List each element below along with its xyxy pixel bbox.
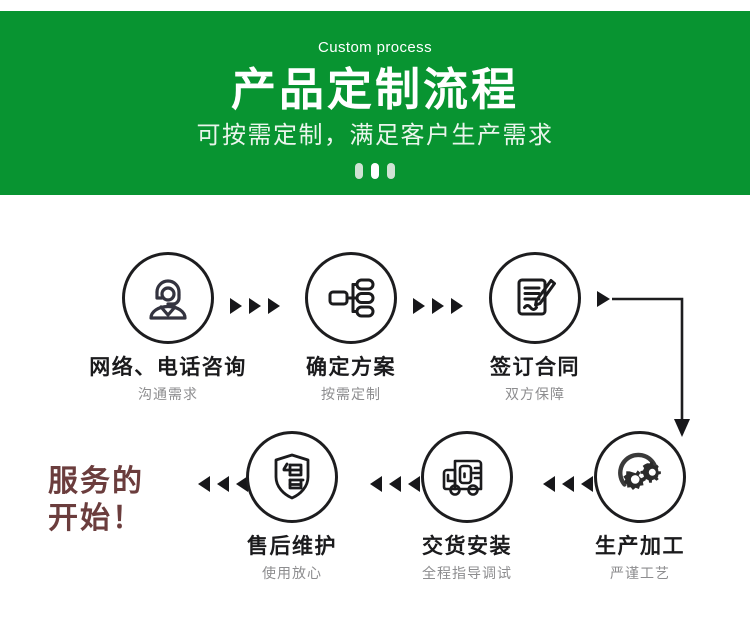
flow-step-subtitle: 沟通需求 — [88, 385, 248, 404]
flow-step-delivery[interactable]: 交货安装 全程指导调试 — [387, 431, 547, 583]
triangle-left-icon — [198, 476, 210, 492]
shield-sale-icon — [246, 431, 338, 523]
triangle-left-icon — [543, 476, 555, 492]
flow-step-aftersales[interactable]: 售后维护 使用放心 — [212, 431, 372, 583]
flow-step-subtitle: 全程指导调试 — [387, 564, 547, 583]
flow-step-consult[interactable]: 网络、电话咨询 沟通需求 — [88, 252, 248, 404]
delivery-truck-icon — [421, 431, 513, 523]
triangle-right-icon — [413, 298, 425, 314]
banner-bars-decoration — [355, 163, 395, 179]
connector-arrow-down — [596, 291, 706, 441]
document-pen-icon — [489, 252, 581, 344]
flowchart-icon — [305, 252, 397, 344]
flow-step-subtitle: 双方保障 — [455, 385, 615, 404]
flow-step-subtitle: 按需定制 — [271, 385, 431, 404]
triangle-right-icon — [249, 298, 261, 314]
gears-icon — [594, 431, 686, 523]
process-flow: 网络、电话咨询 沟通需求 — [0, 195, 750, 634]
flow-step-title: 确定方案 — [271, 355, 431, 381]
flow-step-title: 售后维护 — [212, 534, 372, 560]
banner-eyebrow: Custom process — [0, 39, 750, 57]
triangle-right-icon — [230, 298, 242, 314]
service-start-slogan: 服务的 开始！ — [48, 463, 198, 537]
flow-step-plan[interactable]: 确定方案 按需定制 — [271, 252, 431, 404]
bar-decoration-left — [355, 163, 363, 179]
person-headset-icon — [122, 252, 214, 344]
flow-step-title: 生产加工 — [560, 534, 720, 560]
triangle-left-icon — [370, 476, 382, 492]
slogan-line-1: 服务的 — [48, 463, 198, 500]
flow-step-subtitle: 严谨工艺 — [560, 564, 720, 583]
flow-step-subtitle: 使用放心 — [212, 564, 372, 583]
flow-step-title: 网络、电话咨询 — [88, 355, 248, 381]
flow-step-production[interactable]: 生产加工 严谨工艺 — [560, 431, 720, 583]
slogan-line-2: 开始！ — [48, 500, 198, 537]
triangle-right-icon — [432, 298, 444, 314]
bar-decoration-middle — [371, 163, 379, 179]
flow-step-title: 交货安装 — [387, 534, 547, 560]
banner-subtitle: 可按需定制，满足客户生产需求 — [0, 121, 750, 151]
bar-decoration-right — [387, 163, 395, 179]
page-title: 产品定制流程 — [0, 63, 750, 116]
header-banner: Custom process 产品定制流程 可按需定制，满足客户生产需求 — [0, 11, 750, 195]
flow-step-title: 签订合同 — [455, 355, 615, 381]
flow-step-contract[interactable]: 签订合同 双方保障 — [455, 252, 615, 404]
product-custom-process-page: Custom process 产品定制流程 可按需定制，满足客户生产需求 — [0, 0, 750, 634]
